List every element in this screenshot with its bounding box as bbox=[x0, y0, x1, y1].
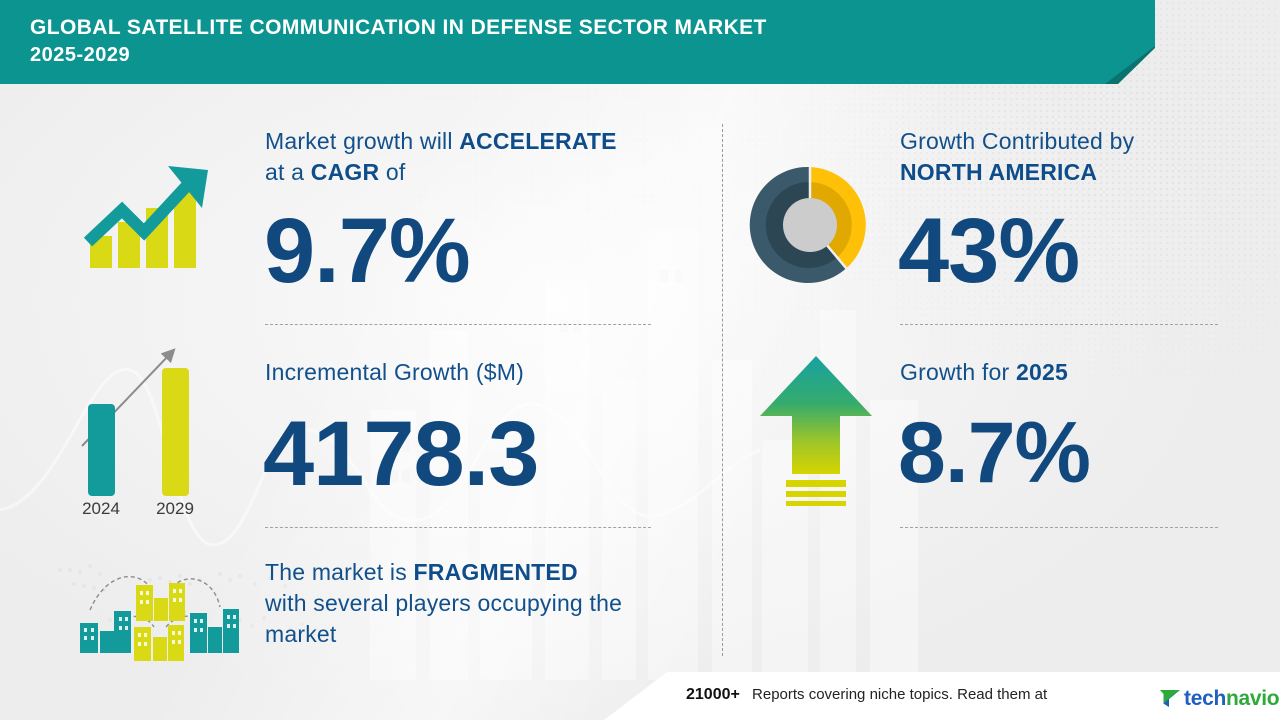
cagr-line-2-prefix: at a bbox=[265, 159, 311, 185]
page-title: GLOBAL SATELLITE COMMUNICATION IN DEFENS… bbox=[30, 13, 1110, 43]
region-line-2: NORTH AMERICA bbox=[900, 157, 1134, 188]
incremental-growth-label: Incremental Growth ($M) bbox=[265, 357, 524, 388]
logo-text-navio: navio bbox=[1226, 687, 1279, 710]
report-period: 2025-2029 bbox=[30, 44, 130, 67]
logo-text-tech: tech bbox=[1184, 687, 1226, 710]
fragmentation-line-1: The market is FRAGMENTED bbox=[265, 557, 622, 588]
yearly-growth-value: 8.7% bbox=[898, 410, 1090, 496]
fragmentation-line-1-prefix: The market is bbox=[265, 559, 414, 585]
donut-center bbox=[783, 198, 837, 252]
region-line-1: Growth Contributed by bbox=[900, 126, 1134, 157]
left-divider-1 bbox=[265, 324, 651, 325]
yearly-growth-year: 2025 bbox=[1016, 359, 1068, 385]
right-divider-2 bbox=[900, 527, 1218, 528]
column-divider bbox=[722, 124, 723, 656]
region-name: NORTH AMERICA bbox=[900, 159, 1097, 185]
left-divider-2 bbox=[265, 527, 651, 528]
fragmented-market-icon bbox=[68, 565, 243, 665]
fragmentation-line-1-emphasis: FRAGMENTED bbox=[414, 559, 578, 585]
cagr-line-1-prefix: Market growth will bbox=[265, 128, 459, 154]
footer-text: 21000+ Reports covering niche topics. Re… bbox=[686, 686, 1047, 704]
footer-caption: Reports covering niche topics. Read them… bbox=[752, 686, 1047, 703]
fragmentation-line-3: market bbox=[265, 619, 622, 650]
technavio-logo-mark bbox=[1158, 687, 1182, 709]
cagr-value: 9.7% bbox=[264, 205, 470, 297]
technavio-logo[interactable]: technavio™ bbox=[1158, 686, 1280, 710]
incremental-growth-value: 4178.3 bbox=[263, 408, 538, 500]
report-count: 21000+ bbox=[686, 686, 740, 703]
bar-label-2029: 2029 bbox=[156, 499, 194, 518]
cagr-text-block: Market growth will ACCELERATE at a CAGR … bbox=[265, 126, 617, 188]
region-donut-chart bbox=[748, 163, 872, 287]
infographic-canvas: GLOBAL SATELLITE COMMUNICATION IN DEFENS… bbox=[0, 0, 1280, 720]
cagr-line-2: at a CAGR of bbox=[265, 157, 617, 188]
region-share-value: 43% bbox=[898, 205, 1079, 297]
cagr-line-2-emphasis: CAGR bbox=[311, 159, 380, 185]
yearly-growth-label: Growth for 2025 bbox=[900, 357, 1068, 388]
region-text-block: Growth Contributed by NORTH AMERICA bbox=[900, 126, 1134, 188]
growth-chart-icon bbox=[68, 148, 224, 288]
incremental-growth-bar-icon: 2024 2029 bbox=[70, 334, 230, 519]
right-divider-1 bbox=[900, 324, 1218, 325]
cagr-line-1: Market growth will ACCELERATE bbox=[265, 126, 617, 157]
cagr-line-2-suffix: of bbox=[379, 159, 405, 185]
cagr-line-1-emphasis: ACCELERATE bbox=[459, 128, 616, 154]
technavio-wordmark: technavio™ bbox=[1184, 688, 1280, 709]
header: GLOBAL SATELLITE COMMUNICATION IN DEFENS… bbox=[0, 0, 1165, 84]
fragmentation-text-block: The market is FRAGMENTED with several pl… bbox=[265, 557, 622, 650]
fragmentation-line-2: with several players occupying the bbox=[265, 588, 622, 619]
yearly-growth-prefix: Growth for bbox=[900, 359, 1016, 385]
bar-label-2024: 2024 bbox=[82, 499, 120, 518]
upward-arrow-icon bbox=[756, 352, 876, 507]
